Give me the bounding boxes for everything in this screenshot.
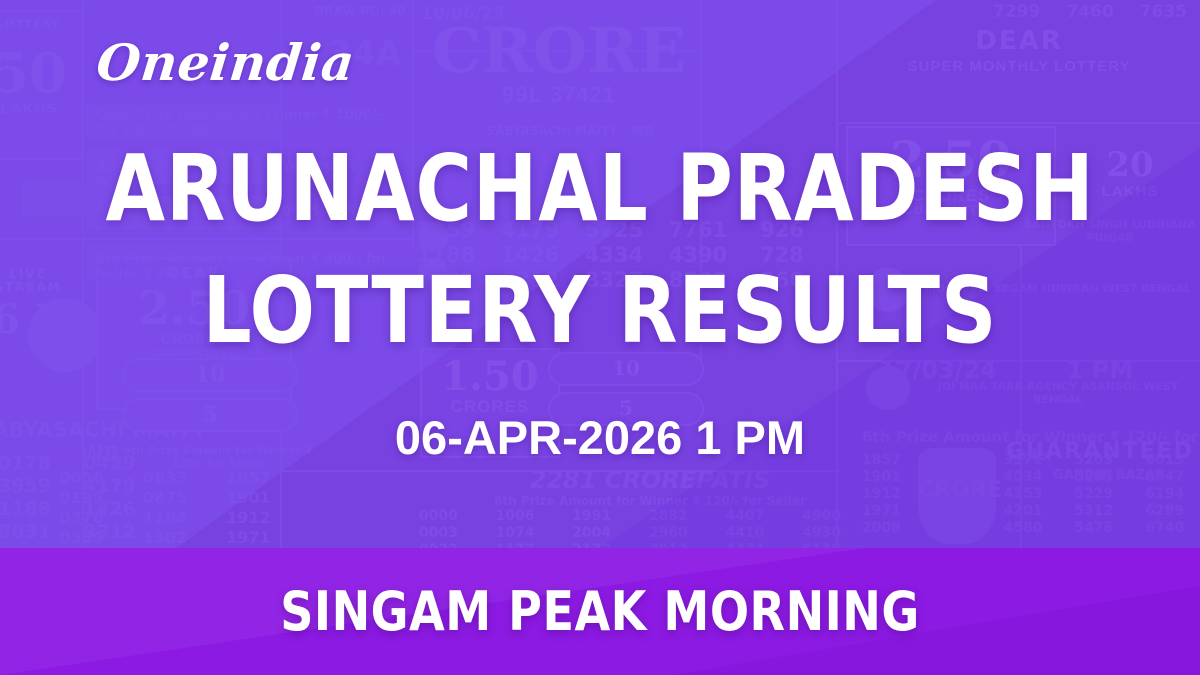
oneindia-logo[interactable]: Oneindia: [94, 33, 358, 92]
title-line-subject: LOTTERY RESULTS: [42, 250, 1158, 372]
lottery-result-poster: LOTTERY 50 LAKHS LIVE STREAM 6 P SABYASA…: [0, 0, 1200, 675]
page-title: ARUNACHAL PRADESH LOTTERY RESULTS: [0, 128, 1200, 373]
draw-name-label: SINGAM PEAK MORNING: [30, 548, 1170, 675]
draw-name-banner: SINGAM PEAK MORNING: [0, 548, 1200, 675]
result-date-time: 06-APR-2026 1 PM: [0, 410, 1200, 465]
title-line-state: ARUNACHAL PRADESH: [42, 128, 1158, 250]
